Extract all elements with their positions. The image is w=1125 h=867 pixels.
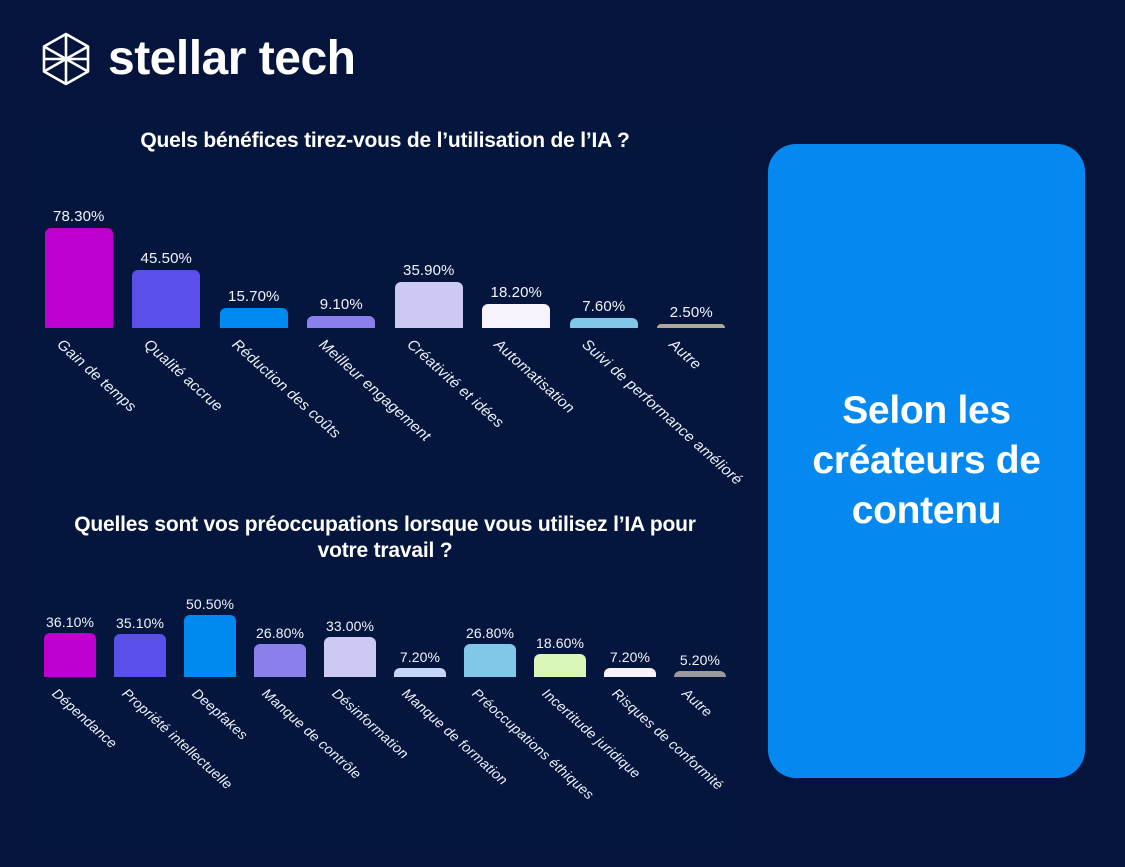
- chart-concerns-plot: 36.10%35.10%50.50%26.80%33.00%7.20%26.80…: [35, 577, 735, 677]
- chart-benefits-bars: 78.30%45.50%15.70%9.10%35.90%18.20%7.60%…: [35, 168, 735, 328]
- bar-slot: 9.10%: [298, 168, 386, 328]
- bar-slot: 18.20%: [473, 168, 561, 328]
- chart-concerns-title: Quelles sont vos préoccupations lorsque …: [35, 512, 735, 563]
- bar-value-label: 7.20%: [610, 649, 650, 665]
- bar: [44, 633, 96, 677]
- bar-value-label: 18.20%: [491, 284, 542, 301]
- bar: [674, 671, 726, 677]
- bar: [604, 668, 656, 677]
- bar-value-label: 50.50%: [186, 596, 234, 612]
- bar: [220, 308, 288, 328]
- bar-value-label: 26.80%: [466, 625, 514, 641]
- bar-slot: 5.20%: [665, 577, 735, 677]
- chart-benefits-plot: 78.30%45.50%15.70%9.10%35.90%18.20%7.60%…: [35, 168, 735, 328]
- bar-value-label: 7.20%: [400, 649, 440, 665]
- bar-slot: 45.50%: [123, 168, 211, 328]
- bar-value-label: 2.50%: [670, 304, 713, 321]
- chart-concerns: Quelles sont vos préoccupations lorsque …: [35, 512, 735, 677]
- bar: [464, 644, 516, 677]
- bar-value-label: 5.20%: [680, 652, 720, 668]
- side-panel: Selon les créateurs de contenu: [768, 144, 1085, 778]
- bar: [45, 228, 113, 328]
- bar: [114, 634, 166, 677]
- bar-value-label: 33.00%: [326, 618, 374, 634]
- bar-slot: 15.70%: [210, 168, 298, 328]
- bar-slot: 7.20%: [595, 577, 665, 677]
- bar: [307, 316, 375, 328]
- chart-benefits: Quels bénéfices tirez-vous de l’utilisat…: [35, 128, 735, 328]
- bar-slot: 26.80%: [245, 577, 315, 677]
- bar: [657, 324, 725, 328]
- bar: [184, 615, 236, 677]
- side-panel-text: Selon les créateurs de contenu: [796, 386, 1057, 536]
- bar-value-label: 9.10%: [320, 296, 363, 313]
- bar-value-label: 35.10%: [116, 615, 164, 631]
- bar-slot: 18.60%: [525, 577, 595, 677]
- bar-slot: 33.00%: [315, 577, 385, 677]
- bar-value-label: 45.50%: [141, 250, 192, 267]
- bar: [132, 270, 200, 328]
- bar: [394, 668, 446, 677]
- bar: [570, 318, 638, 328]
- bar-value-label: 35.90%: [403, 262, 454, 279]
- chart-concerns-bars: 36.10%35.10%50.50%26.80%33.00%7.20%26.80…: [35, 577, 735, 677]
- brand-name: stellar tech: [108, 35, 355, 83]
- bar-value-label: 18.60%: [536, 635, 584, 651]
- bar-slot: 26.80%: [455, 577, 525, 677]
- bar: [324, 637, 376, 678]
- bar-slot: 7.20%: [385, 577, 455, 677]
- bar-slot: 35.10%: [105, 577, 175, 677]
- bar-slot: 7.60%: [560, 168, 648, 328]
- hexagon-star-icon: [40, 31, 92, 87]
- bar-slot: 78.30%: [35, 168, 123, 328]
- bar-slot: 35.90%: [385, 168, 473, 328]
- bar-slot: 36.10%: [35, 577, 105, 677]
- bar-value-label: 36.10%: [46, 614, 94, 630]
- bar: [534, 654, 586, 677]
- bar: [395, 282, 463, 328]
- bar-slot: 2.50%: [648, 168, 736, 328]
- bar-value-label: 7.60%: [582, 298, 625, 315]
- bar-value-label: 78.30%: [53, 208, 104, 225]
- bar: [254, 644, 306, 677]
- chart-benefits-title: Quels bénéfices tirez-vous de l’utilisat…: [35, 128, 735, 154]
- bar-value-label: 26.80%: [256, 625, 304, 641]
- bar: [482, 304, 550, 327]
- bar-slot: 50.50%: [175, 577, 245, 677]
- bar-value-label: 15.70%: [228, 288, 279, 305]
- brand-logo: stellar tech: [40, 31, 355, 87]
